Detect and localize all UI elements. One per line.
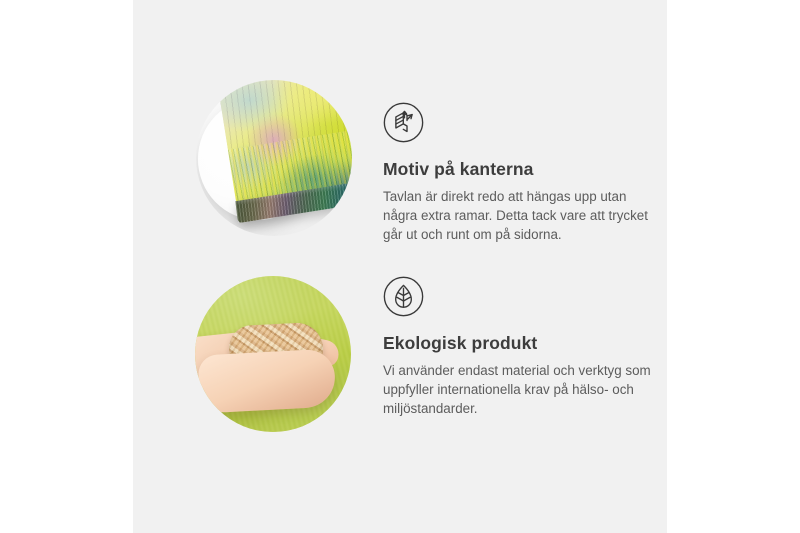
canvas-photo-block — [217, 80, 352, 231]
canvas-print-edge-photo — [196, 80, 352, 236]
product-features-banner: Motiv på kanterna Tavlan är direkt redo … — [0, 0, 800, 533]
canvas-photo-background — [196, 80, 352, 236]
feature-description: Vi använder endast material och verktyg … — [383, 361, 651, 418]
feature-text-canvas-edges: Motiv på kanterna Tavlan är direkt redo … — [383, 102, 658, 244]
feature-title: Motiv på kanterna — [383, 159, 658, 180]
canvas-wrapped-edges-icon — [383, 102, 424, 143]
feature-text-eco-product: Ekologisk produkt Vi använder endast mat… — [383, 276, 658, 418]
leaf-icon — [383, 276, 424, 317]
hands-with-wood-chips-photo — [195, 276, 351, 432]
feature-block-canvas-edges: Motiv på kanterna Tavlan är direkt redo … — [133, 60, 667, 260]
feature-block-eco-product: Ekologisk produkt Vi använder endast mat… — [133, 248, 667, 448]
feature-description: Tavlan är direkt redo att hängas upp uta… — [383, 187, 651, 244]
eco-photo-hand-front — [198, 348, 337, 413]
feature-title: Ekologisk produkt — [383, 333, 658, 354]
content-panel: Motiv på kanterna Tavlan är direkt redo … — [133, 0, 667, 533]
eco-photo-background — [195, 276, 351, 432]
